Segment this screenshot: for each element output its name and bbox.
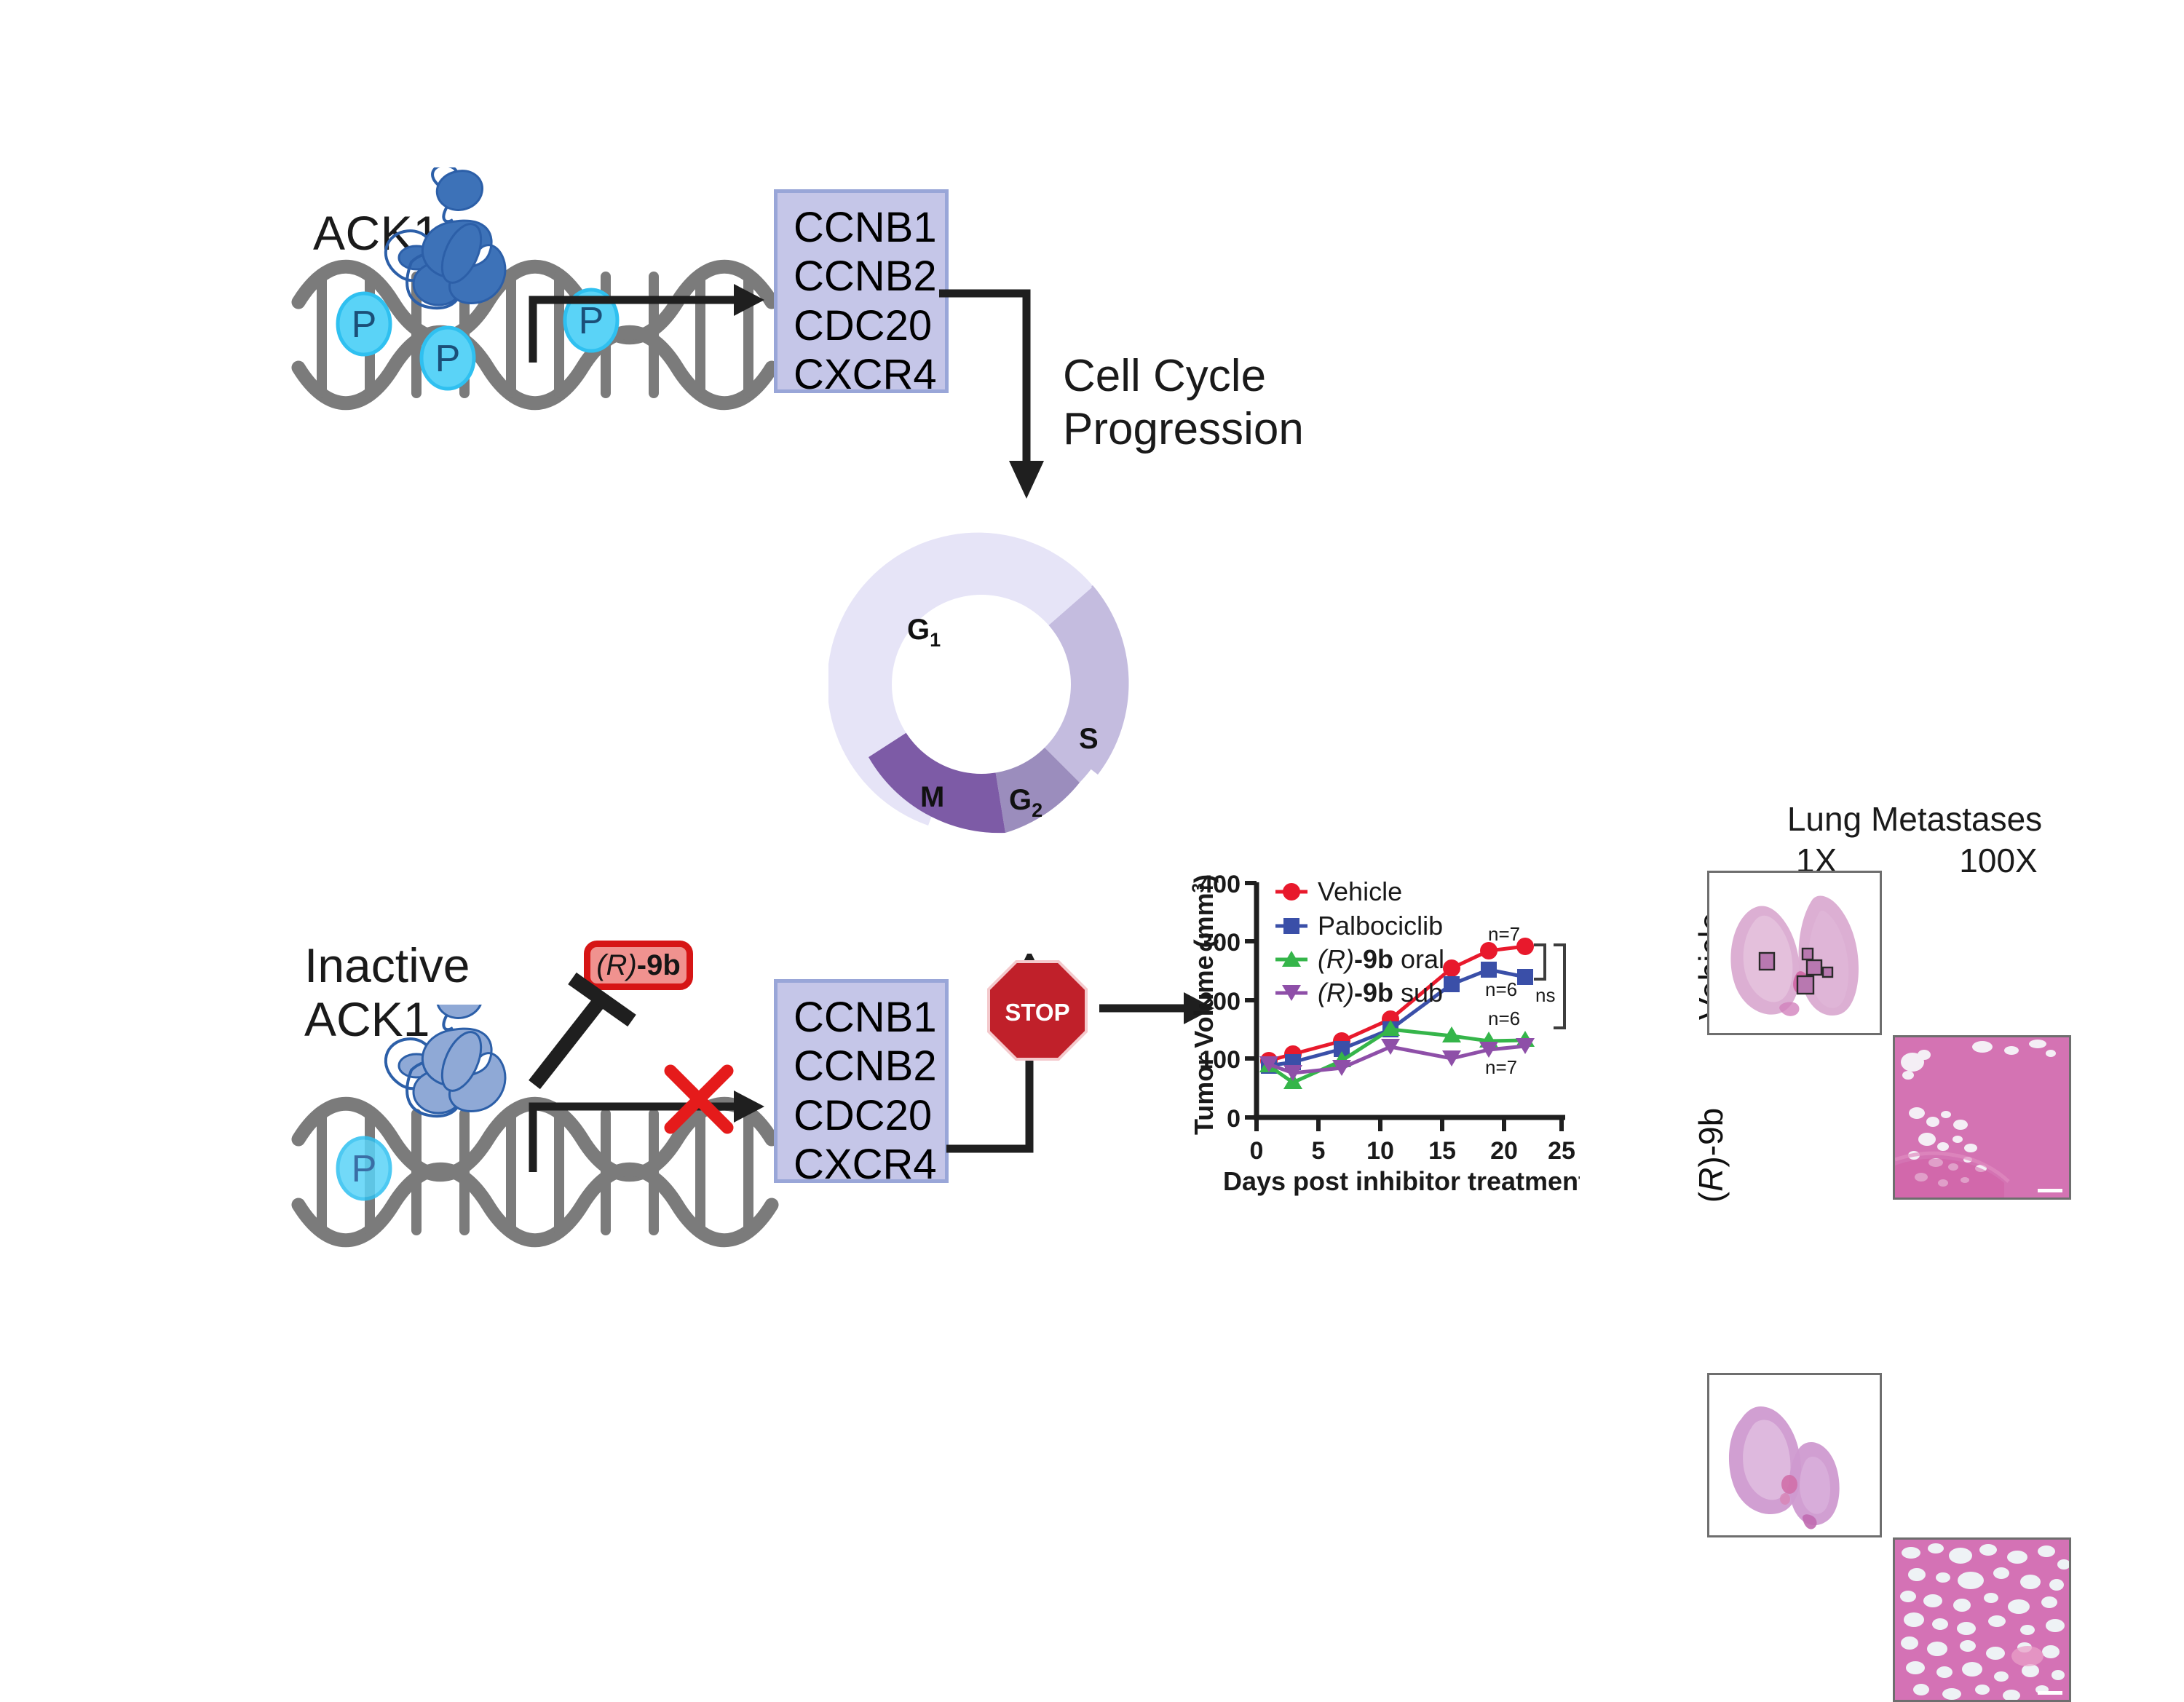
row-label-9b-italic: R — [1692, 1168, 1730, 1192]
row-label-9b-prefix: ( — [1692, 1192, 1730, 1203]
tumor-volume-chart: 0 100 200 300 400 0 5 10 15 20 25 Days p… — [1187, 859, 1580, 1238]
lung-tissue-icon — [1730, 896, 1859, 1016]
y-axis-title-sup: 3 — [1189, 883, 1208, 892]
ack1-protein-icon — [386, 167, 505, 308]
magnification-100x-label: 100X — [1929, 841, 2068, 880]
gene-label: CCNB1 — [794, 203, 945, 252]
scale-bar — [2038, 1189, 2062, 1192]
x-tick-label: 20 — [1490, 1137, 1518, 1165]
red-x-icon — [659, 1059, 739, 1139]
n-label-9b-sub: n=7 — [1485, 1056, 1517, 1078]
gene-box-bottom: CCNB1 CCNB2 CDC20 CXCR4 — [774, 979, 949, 1183]
x-tick-label: 10 — [1366, 1137, 1394, 1165]
transcription-arrow-top — [524, 269, 772, 371]
scale-bar — [2038, 1691, 2062, 1695]
legend-num: -9b — [1354, 978, 1393, 1008]
x-tick-labels: 0 5 10 15 20 25 — [1250, 1137, 1575, 1165]
x-tick-label: 0 — [1250, 1137, 1264, 1165]
stars-annotation: *** — [1570, 989, 1580, 1021]
legend-label-palbociclib: Palbociclib — [1318, 911, 1443, 941]
n-label-vehicle: n=7 — [1488, 923, 1520, 945]
chart-legend: Vehicle Palbociclib (R)-9b oral (R)-9b s… — [1275, 876, 1444, 1008]
cell-cycle-progression-label: Cell Cycle Progression — [1063, 349, 1304, 456]
stop-sign-label: STOP — [1005, 999, 1069, 1026]
gene-label: CXCR4 — [794, 1140, 945, 1189]
phospho-group: P — [338, 1138, 390, 1199]
histology-9b-100x — [1893, 1537, 2071, 1702]
lung-tissue-icon — [1729, 1406, 1840, 1529]
phase-label-m: M — [920, 781, 944, 813]
x-tick-label: 25 — [1548, 1137, 1575, 1165]
legend-route: oral — [1393, 944, 1444, 974]
x-tick-label: 5 — [1312, 1137, 1326, 1165]
stop-sign-icon: STOP — [986, 959, 1088, 1061]
n-label-palbociclib: n=6 — [1485, 978, 1517, 1000]
y-tick-label: 0 — [1227, 1105, 1241, 1133]
svg-text:P: P — [352, 1148, 377, 1190]
cell-cycle-donut: G1 S G2 M — [828, 531, 1134, 837]
legend-stereo: (R) — [1318, 978, 1354, 1008]
ns-annotation: ns — [1535, 984, 1555, 1006]
gene-label: CDC20 — [794, 301, 945, 350]
legend-label-9b-sub: (R)-9b sub — [1318, 978, 1443, 1008]
legend-stereo: (R) — [1318, 944, 1354, 974]
x-tick-label: 15 — [1428, 1137, 1456, 1165]
gene-label: CCNB1 — [794, 993, 945, 1042]
histology-vehicle-100x — [1893, 1035, 2071, 1200]
gene-label: CDC20 — [794, 1091, 945, 1140]
svg-text:P: P — [435, 338, 461, 380]
phase-label-s: S — [1079, 723, 1099, 755]
legend-route: sub — [1393, 978, 1443, 1008]
legend-label-9b-oral: (R)-9b oral — [1318, 944, 1444, 974]
legend-num: -9b — [1354, 944, 1393, 974]
lung-metastases-title: Lung Metastases — [1769, 799, 2060, 839]
y-axis-title-main: Tumor Volume (mm — [1189, 892, 1219, 1135]
y-axis-title-close: ) — [1189, 874, 1219, 883]
n-label-9b-oral: n=6 — [1488, 1008, 1520, 1029]
x-axis-title: Days post inhibitor treatment — [1223, 1166, 1580, 1196]
gene-label: CCNB2 — [794, 1042, 945, 1091]
histology-9b-1x — [1707, 1373, 1882, 1537]
row-label-9b-suffix: )-9b — [1692, 1108, 1730, 1168]
gene-label: CCNB2 — [794, 252, 945, 301]
svg-text:P: P — [352, 304, 377, 346]
row-label-9b: (R)-9b — [1691, 1086, 1730, 1224]
legend-label-vehicle: Vehicle — [1318, 876, 1402, 906]
gene-box-top: CCNB1 CCNB2 CDC20 CXCR4 — [774, 189, 949, 393]
histology-vehicle-1x — [1707, 871, 1882, 1035]
ack1-protein-icon — [386, 1005, 505, 1116]
gene-label: CXCR4 — [794, 350, 945, 399]
y-axis-title: Tumor Volume (mm3) — [1189, 874, 1219, 1135]
